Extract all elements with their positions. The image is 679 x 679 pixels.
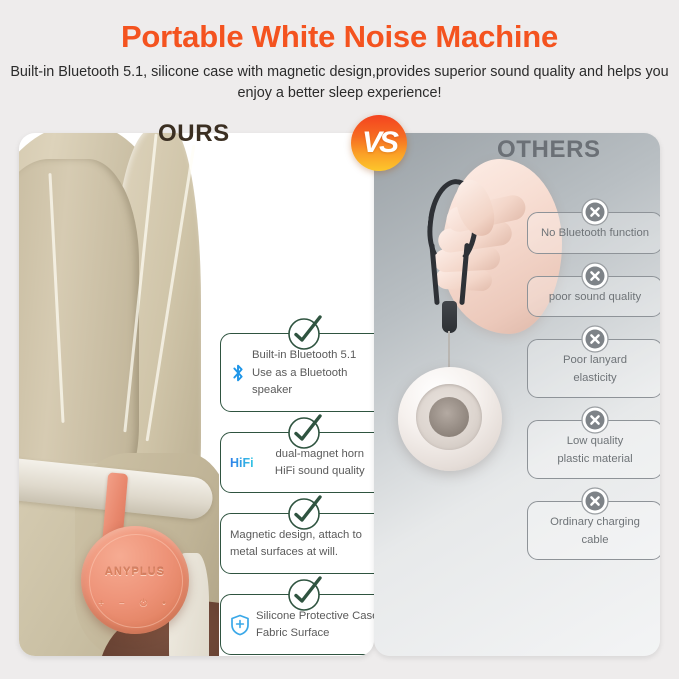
hifi-icon: HiFi xyxy=(230,456,254,470)
vs-badge: VS xyxy=(351,115,407,171)
ours-heading: OURS xyxy=(158,120,230,148)
others-heading: OTHERS xyxy=(497,136,601,164)
speaker-brand-label: ANYPLUS xyxy=(81,566,189,578)
bluetooth-icon xyxy=(230,363,246,383)
comparison-panels: ANYPLUS + − ⏻ • Built xyxy=(19,133,660,656)
feature-item: Built-in Bluetooth 5.1 Use as a Bluetoot… xyxy=(220,333,374,412)
page-subtitle: Built-in Bluetooth 5.1, silicone case wi… xyxy=(0,55,679,103)
shield-plus-icon xyxy=(230,614,250,636)
drawback-item: Ordinary charging cable xyxy=(527,501,660,560)
check-circle-icon xyxy=(286,656,324,657)
feature-text: dual-magnet horn HiFi sound quality xyxy=(260,446,374,481)
feature-item: Silicone Protective Case Fabric Surface xyxy=(220,594,374,655)
x-circle-icon xyxy=(579,485,611,517)
feature-line-2: HiFi sound quality xyxy=(260,463,374,481)
drawback-line-2: elasticity xyxy=(534,370,656,388)
check-circle-icon xyxy=(286,575,324,613)
drawback-line-2: cable xyxy=(534,532,656,550)
x-circle-icon xyxy=(579,196,611,228)
others-panel: No Bluetooth function poor sound quality xyxy=(374,133,660,656)
drawback-text: Ordinary charging cable xyxy=(534,514,656,549)
page-title: Portable White Noise Machine xyxy=(0,0,679,55)
ours-feature-list: Built-in Bluetooth 5.1 Use as a Bluetoot… xyxy=(220,333,374,656)
feature-line-2: metal surfaces at will. xyxy=(230,544,374,562)
feature-line-2: Fabric Surface xyxy=(256,625,374,643)
page-header: Portable White Noise Machine Built-in Bl… xyxy=(0,0,679,118)
feature-text: Silicone Protective Case Fabric Surface xyxy=(256,608,374,643)
feature-text: Magnetic design, attach to metal surface… xyxy=(230,527,374,562)
check-circle-icon xyxy=(286,413,324,451)
drawback-item: Low quality plastic material xyxy=(527,420,660,479)
x-circle-icon xyxy=(579,260,611,292)
ours-panel: ANYPLUS + − ⏻ • Built xyxy=(19,133,374,656)
drawback-line-2: plastic material xyxy=(534,451,656,469)
ours-product-photo: ANYPLUS + − ⏻ • xyxy=(19,133,219,656)
competitor-device xyxy=(398,367,502,471)
drawback-text: Poor lanyard elasticity xyxy=(534,352,656,387)
drawback-item: No Bluetooth function xyxy=(527,212,660,254)
anyplus-speaker-device: ANYPLUS + − ⏻ • xyxy=(81,526,189,634)
check-circle-icon xyxy=(286,314,324,352)
speaker-rim xyxy=(89,534,183,628)
x-circle-icon xyxy=(579,404,611,436)
feature-item: HiFi dual-magnet horn HiFi sound quality xyxy=(220,432,374,493)
feature-line-2: Use as a Bluetooth speaker xyxy=(252,365,374,400)
check-circle-icon xyxy=(286,494,324,532)
drawback-item: poor sound quality xyxy=(527,276,660,318)
x-circle-icon xyxy=(579,323,611,355)
competitor-device-core xyxy=(429,397,469,437)
speaker-control-glyphs: + − ⏻ • xyxy=(81,598,189,609)
vs-label: VS xyxy=(362,128,396,158)
lanyard-tip xyxy=(442,301,457,333)
car-seat-back-inner xyxy=(19,159,139,499)
others-drawback-list: No Bluetooth function poor sound quality xyxy=(527,212,660,582)
feature-item: Magnetic design, attach to metal surface… xyxy=(220,513,374,574)
feature-text: Built-in Bluetooth 5.1 Use as a Bluetoot… xyxy=(252,347,374,400)
drawback-item: Poor lanyard elasticity xyxy=(527,339,660,398)
drawback-text: Low quality plastic material xyxy=(534,433,656,468)
